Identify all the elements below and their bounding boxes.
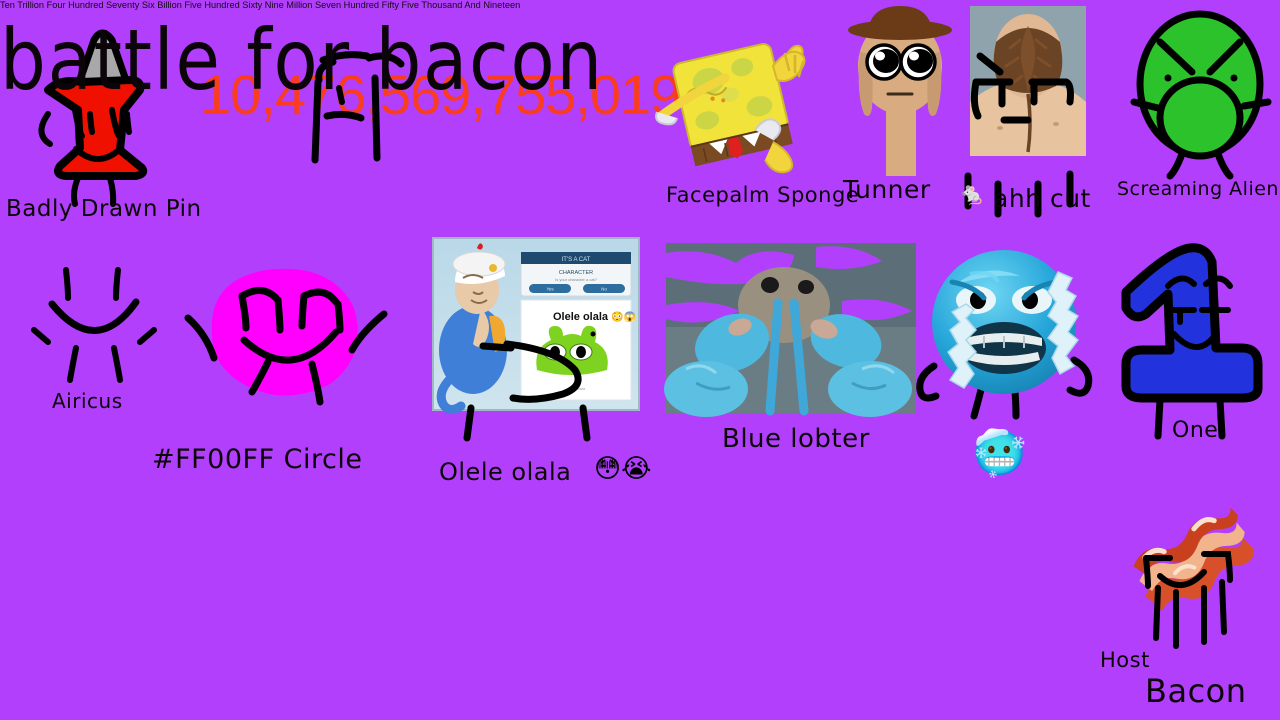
airicus-drawing	[28, 256, 168, 396]
page-title: battle for bacon	[0, 11, 1101, 109]
emoji-mouse: 🐁	[958, 184, 985, 206]
poster-canvas: Badly Drawn Pin 10,476,569,755,019 Ten T…	[0, 0, 1280, 720]
frozen-face-drawing	[916, 238, 1096, 418]
emoji-cold-face: 🥶	[972, 432, 1027, 476]
label-host-name: Bacon	[1145, 672, 1247, 710]
label-screaming-alienq: Screaming Alienq	[1117, 178, 1280, 200]
character-blue-lobter[interactable]	[666, 243, 916, 413]
label-blue-lobter: Blue lobter	[722, 424, 870, 454]
svg-text:Yes: Yes	[546, 287, 554, 292]
screaming-alienq-drawing	[1126, 6, 1276, 181]
character-ff00ff-circle[interactable]	[182, 256, 392, 426]
emoji-olele-olala: 😳😭	[594, 456, 651, 482]
character-host-bacon[interactable]	[1130, 520, 1260, 660]
svg-text:CHARACTER: CHARACTER	[559, 270, 593, 276]
ff00ff-circle-drawing	[182, 256, 392, 426]
olele-olala-legs	[453, 406, 633, 456]
label-badly-drawn-pin: Badly Drawn Pin	[6, 196, 202, 222]
olele-olala-scribble	[427, 308, 647, 418]
svg-text:Is your character a cat?: Is your character a cat?	[555, 277, 598, 282]
character-frozen-face[interactable]	[916, 238, 1096, 418]
svg-text:No: No	[601, 287, 607, 292]
one-drawing	[1112, 238, 1272, 438]
label-airicus: Airicus	[52, 389, 123, 413]
character-one[interactable]	[1112, 238, 1272, 438]
label-one: One	[1172, 418, 1218, 443]
label-facepalm-sponge: Facepalm Sponge	[666, 183, 859, 207]
label-ahh-cut: ahh cut	[993, 184, 1091, 213]
svg-text:IT'S A CAT: IT'S A CAT	[562, 257, 591, 263]
label-olele-olala: Olele olala	[439, 458, 571, 486]
label-host-role: Host	[1100, 648, 1150, 672]
label-ff00ff-circle: #FF00FF Circle	[152, 444, 363, 475]
character-airicus[interactable]	[28, 256, 168, 396]
label-tunner: Tunner	[843, 175, 931, 204]
character-olele-olala[interactable]: IT'S A CAT CHARACTER Is your character a…	[433, 238, 639, 410]
bacon-drawing	[1130, 520, 1260, 660]
character-screaming-alienq[interactable]	[1126, 6, 1276, 181]
blue-lobter-photo	[666, 243, 916, 413]
